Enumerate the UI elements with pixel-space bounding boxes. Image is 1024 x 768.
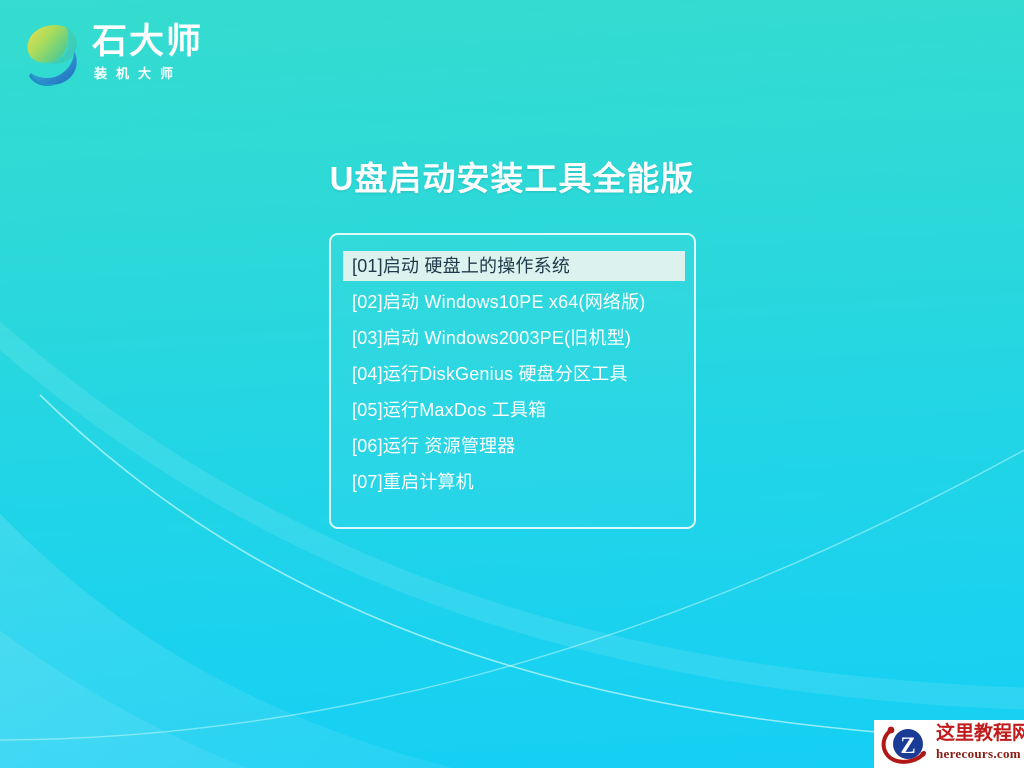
boot-menu-list: [01]启动 硬盘上的操作系统 [02]启动 Windows10PE x64(网… [331,251,694,503]
menu-item-04[interactable]: [04]运行DiskGenius 硬盘分区工具 [331,359,694,389]
z-orbit-logo-icon: Z [878,723,934,765]
brand-name: 石大师 [92,22,203,62]
brand-text-block: 石大师 装机大师 [92,22,228,92]
boot-menu-panel: [01]启动 硬盘上的操作系统 [02]启动 Windows10PE x64(网… [329,233,696,529]
menu-item-06[interactable]: [06]运行 资源管理器 [331,431,694,461]
watermark-site-name: 这里教程网 [936,723,1024,745]
boot-menu-screen: 石大师 装机大师 U盘启动安装工具全能版 [01]启动 硬盘上的操作系统 [02… [0,0,1024,768]
watermark-url: herecours.com [936,746,1021,762]
menu-item-07[interactable]: [07]重启计算机 [331,467,694,497]
svg-text:Z: Z [900,733,915,758]
menu-item-05[interactable]: [05]运行MaxDos 工具箱 [331,395,694,425]
page-title: U盘启动安装工具全能版 [0,158,1024,200]
stone-master-s-logo-icon [22,18,88,90]
brand-logo: 石大师 装机大师 [22,14,232,96]
brand-subtitle: 装机大师 [94,66,182,82]
menu-item-03[interactable]: [03]启动 Windows2003PE(旧机型) [331,323,694,353]
watermark: Z 这里教程网 herecours.com [874,720,1024,768]
menu-item-01[interactable]: [01]启动 硬盘上的操作系统 [343,251,685,281]
menu-item-02[interactable]: [02]启动 Windows10PE x64(网络版) [331,287,694,317]
